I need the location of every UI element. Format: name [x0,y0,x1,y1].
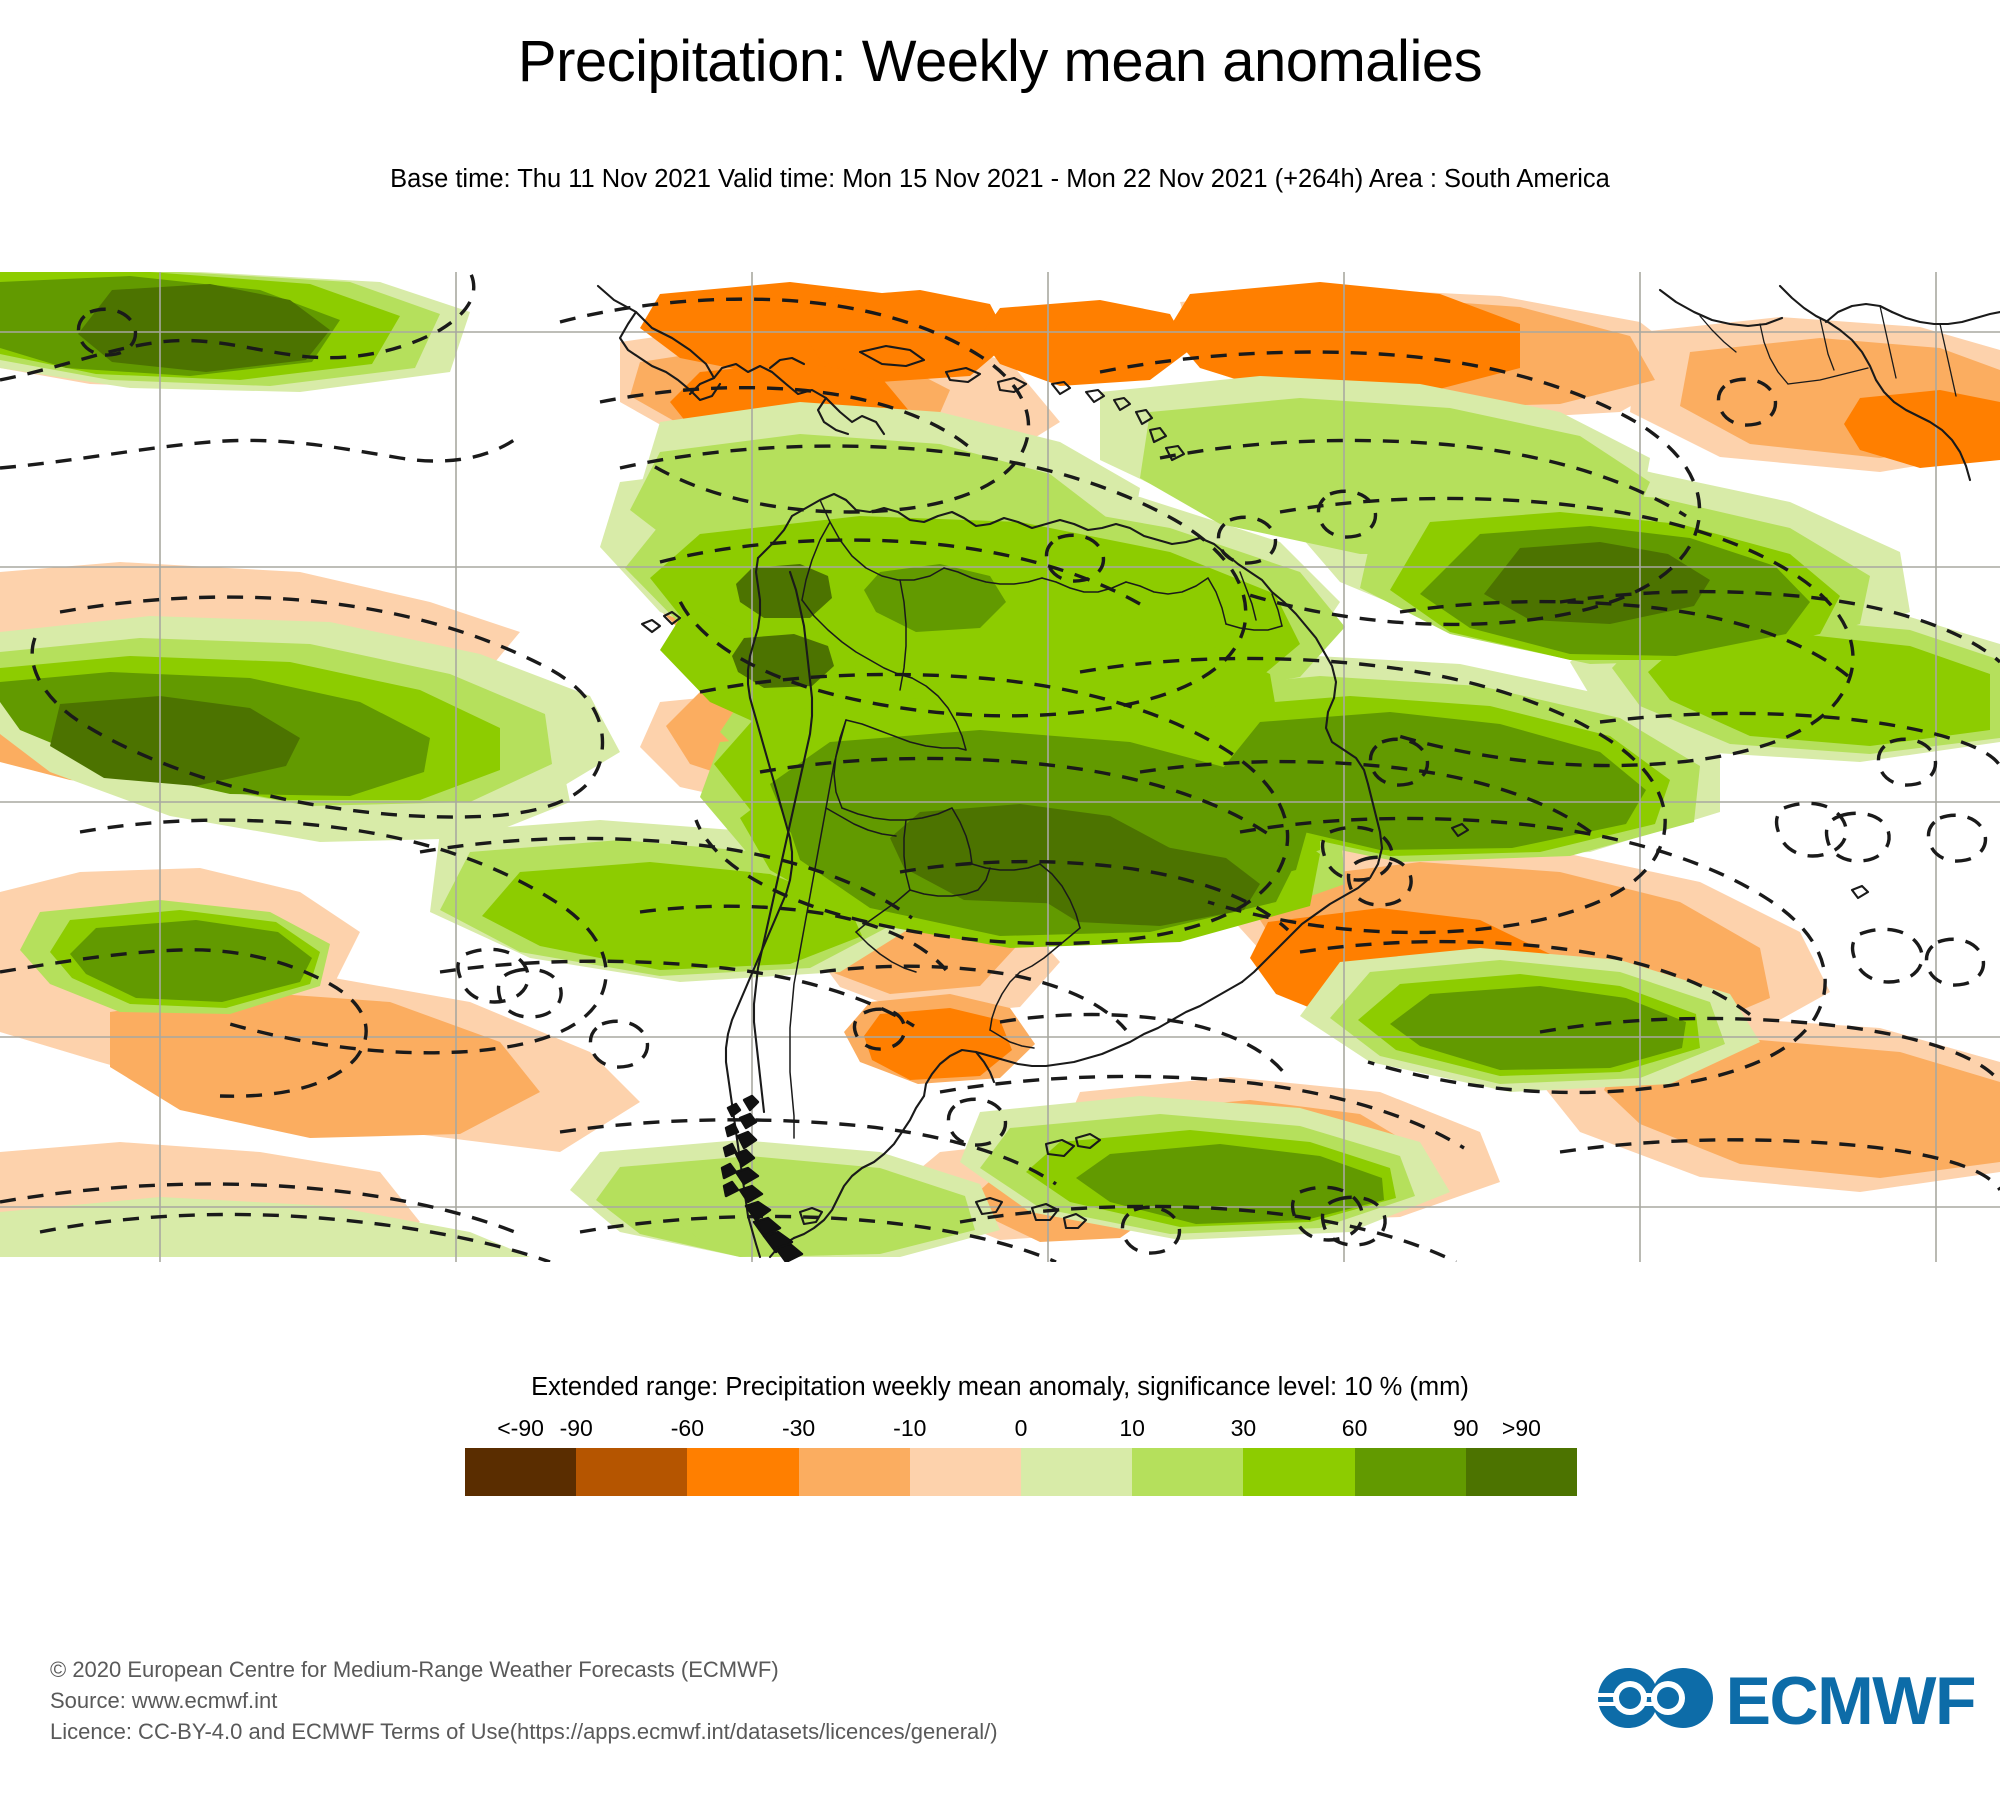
footer-copyright: © 2020 European Centre for Medium-Range … [50,1654,998,1685]
colorbar-swatch-8 [1355,1448,1466,1496]
ecmwf-cloud-icon [1592,1662,1720,1740]
colorbar-tick-2: -60 [671,1415,704,1442]
colorbar-tick-0: <-90 [497,1415,544,1442]
colorbar-tick-4: -10 [893,1415,926,1442]
anomaly-map [0,272,2000,1262]
footer-licence: Licence: CC-BY-4.0 and ECMWF Terms of Us… [50,1716,998,1747]
colorbar-tick-8: 60 [1342,1415,1368,1442]
colorbar-swatches [465,1448,1577,1496]
page-subtitle: Base time: Thu 11 Nov 2021 Valid time: M… [0,165,2000,194]
colorbar-swatch-1 [576,1448,687,1496]
colorbar-tick-7: 30 [1231,1415,1257,1442]
colorbar-tick-3: -30 [782,1415,815,1442]
colorbar-tick-5: 0 [1015,1415,1028,1442]
ecmwf-logo: ECMWF [1592,1662,1975,1740]
colorbar-tick-9: 90 [1453,1415,1479,1442]
colorbar-swatch-7 [1243,1448,1354,1496]
colorbar-swatch-9 [1466,1448,1577,1496]
colorbar-tick-1: -90 [560,1415,593,1442]
colorbar-swatch-4 [910,1448,1021,1496]
colorbar-swatch-2 [687,1448,798,1496]
footer-source: Source: www.ecmwf.int [50,1685,998,1716]
page-title: Precipitation: Weekly mean anomalies [0,28,2000,95]
colorbar-swatch-6 [1132,1448,1243,1496]
ecmwf-logo-text: ECMWF [1726,1667,1975,1735]
map-canvas [0,272,2000,1262]
colorbar-tick-6: 10 [1119,1415,1145,1442]
colorbar-swatch-3 [799,1448,910,1496]
colorbar-tick-labels: <-90-90-60-30-10010306090>90 [465,1415,1577,1447]
colorbar-swatch-0 [465,1448,576,1496]
colorbar: <-90-90-60-30-10010306090>90 [465,1415,1577,1496]
colorbar-tick-10: >90 [1502,1415,1541,1442]
colorbar-caption: Extended range: Precipitation weekly mea… [0,1373,2000,1402]
colorbar-swatch-5 [1021,1448,1132,1496]
footer: © 2020 European Centre for Medium-Range … [50,1654,998,1747]
